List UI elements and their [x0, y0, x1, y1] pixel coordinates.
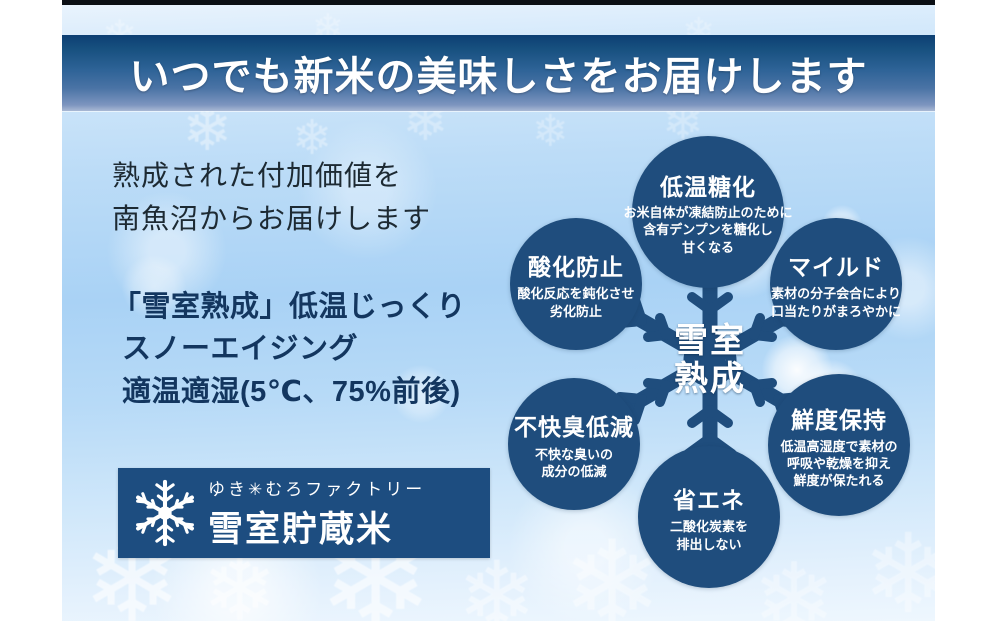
benefit-node-odor-reduction[interactable]: 不快臭低減 不快な臭いの 成分の低減: [508, 378, 640, 510]
node-title: 酸化防止: [528, 248, 624, 282]
headline-line-1: 「雪室熟成」低温じっくり: [112, 286, 532, 328]
banner-title: いつでも新米の美味しさをお届けします: [130, 44, 868, 102]
node-desc-line-3: 鮮度が保たれる: [780, 472, 897, 489]
center-label-line-2: 熟成: [674, 360, 746, 398]
poster-root: ❄ ❄ ❄ ❄ ❄ ❄ ❄ ❄ ❄ ❄ ❄ ❄ ❄ ❄ ❄ いつでも新米の美味し…: [0, 0, 1000, 621]
snowflake-icon: [128, 476, 202, 550]
headline-line-2: スノーエイジング: [112, 328, 532, 370]
node-desc-line-2: 成分の低減: [535, 463, 613, 480]
node-title: 不快臭低減: [514, 408, 634, 442]
logo-text-block: ゆき✳むろファクトリー 雪室貯蔵米: [208, 475, 425, 552]
node-title: マイルド: [788, 248, 884, 282]
node-desc-line-2: 排出しない: [670, 536, 748, 553]
logo-subtitle: ゆき✳むろファクトリー: [208, 475, 425, 500]
benefit-node-antioxidation[interactable]: 酸化防止 酸化反応を鈍化させ 劣化防止: [510, 218, 642, 350]
center-label: 雪室 熟成: [674, 322, 746, 398]
node-desc-line-1: 二酸化炭素を: [670, 518, 748, 535]
node-title: 鮮度保持: [791, 401, 887, 435]
brand-logo: ゆき✳むろファクトリー 雪室貯蔵米: [118, 468, 490, 558]
node-desc-line-3: 甘くなる: [624, 239, 793, 256]
node-desc-line-1: 低温高湿度で素材の: [780, 438, 897, 455]
node-description: 二酸化炭素を 排出しない: [670, 518, 748, 552]
benefit-node-energy-saving[interactable]: 省エネ 二酸化炭素を 排出しない: [638, 446, 780, 588]
node-title: 省エネ: [673, 481, 745, 515]
lead-copy: 熟成された付加価値を 南魚沼からお届けします: [112, 156, 512, 241]
node-description: 低温高湿度で素材の 呼吸や乾燥を抑え 鮮度が保たれる: [780, 438, 897, 489]
node-title: 低温糖化: [660, 168, 756, 202]
node-description: お米自体が凍結防止のために 含有デンプンを糖化し 甘くなる: [624, 204, 793, 255]
node-desc-line-1: 不快な臭いの: [535, 446, 613, 463]
node-description: 不快な臭いの 成分の低減: [535, 446, 613, 480]
lead-line-2: 南魚沼からお届けします: [112, 199, 512, 242]
node-desc-line-2: 口当たりがまろやかに: [771, 303, 901, 320]
node-desc-line-1: お米自体が凍結防止のために: [624, 204, 793, 221]
node-desc-line-2: 劣化防止: [517, 303, 634, 320]
benefit-node-mild[interactable]: マイルド 素材の分子会合により 口当たりがまろやかに: [770, 218, 902, 350]
node-description: 素材の分子会合により 口当たりがまろやかに: [771, 285, 901, 319]
headline-copy: 「雪室熟成」低温じっくり スノーエイジング 適温適湿(5℃、75%前後): [112, 286, 532, 413]
logo-title: 雪室貯蔵米: [208, 501, 425, 552]
center-label-line-1: 雪室: [674, 322, 746, 360]
node-description: 酸化反応を鈍化させ 劣化防止: [517, 285, 634, 319]
lead-line-1: 熟成された付加価値を: [112, 156, 512, 199]
node-desc-line-1: 酸化反応を鈍化させ: [517, 285, 634, 302]
benefit-node-freshness[interactable]: 鮮度保持 低温高湿度で素材の 呼吸や乾燥を抑え 鮮度が保たれる: [768, 374, 910, 516]
node-desc-line-1: 素材の分子会合により: [771, 285, 901, 302]
node-desc-line-2: 含有デンプンを糖化し: [624, 221, 793, 238]
benefits-diagram: 雪室 熟成 低温糖化 お米自体が凍結防止のために 含有デンプンを糖化し 甘くなる…: [480, 130, 940, 590]
headline-line-3: 適温適湿(5℃、75%前後): [112, 371, 532, 413]
node-desc-line-2: 呼吸や乾燥を抑え: [780, 455, 897, 472]
header-banner: いつでも新米の美味しさをお届けします: [62, 35, 935, 111]
benefit-node-low-temp-saccharification[interactable]: 低温糖化 お米自体が凍結防止のために 含有デンプンを糖化し 甘くなる: [632, 136, 784, 288]
